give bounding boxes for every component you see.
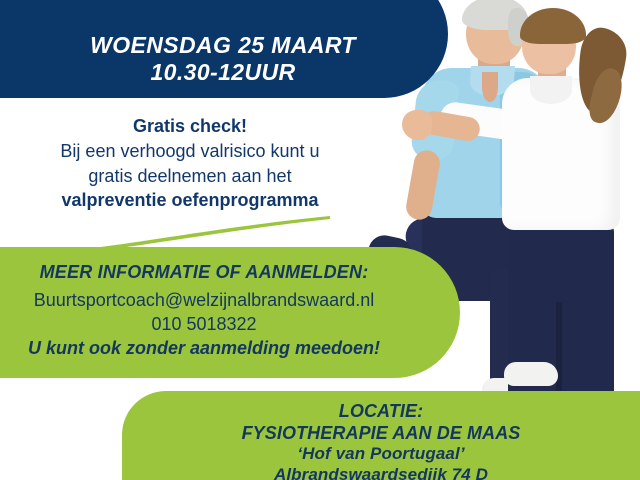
location-block: LOCATIE: FYSIOTHERAPIE AAN DE MAAS ‘Hof … <box>122 391 640 480</box>
location-label: LOCATIE: <box>122 400 640 422</box>
contact-phone[interactable]: 010 5018322 <box>0 313 408 336</box>
poster-flyer: WOENSDAG 25 MAART 10.30-12UUR Gratis che… <box>0 0 640 480</box>
physio-hand <box>402 110 432 140</box>
intro-line-1: Bij een verhoogd valrisico kunt u <box>0 139 380 164</box>
banner-time-line: 10.30-12UUR <box>150 59 295 86</box>
location-name: FYSIOTHERAPIE AAN DE MAAS <box>122 422 640 444</box>
banner-date-line: WOENSDAG 25 MAART <box>90 32 356 59</box>
location-address: Albrandswaardsedijk 74 D <box>122 465 640 480</box>
physio-shoe <box>504 362 558 386</box>
contact-note: U kunt ook zonder aanmelding meedoen! <box>0 337 408 360</box>
intro-text-block: Gratis check! Bij een verhoogd valrisico… <box>0 114 380 213</box>
location-building: ‘Hof van Poortugaal’ <box>122 444 640 465</box>
contact-email[interactable]: Buurtsportcoach@welzijnalbrandswaard.nl <box>0 289 408 312</box>
date-banner: WOENSDAG 25 MAART 10.30-12UUR <box>0 0 448 98</box>
intro-line-2: gratis deelnemen aan het <box>0 164 380 189</box>
intro-heading: Gratis check! <box>0 114 380 139</box>
contact-block: MEER INFORMATIE OF AANMELDEN: Buurtsport… <box>0 247 460 378</box>
physio-collar <box>530 76 572 104</box>
intro-programme-name: valpreventie oefenprogramma <box>0 188 380 213</box>
physiotherapist-figure <box>494 2 640 412</box>
physio-hair <box>520 8 586 44</box>
contact-title: MEER INFORMATIE OF AANMELDEN: <box>0 261 408 284</box>
